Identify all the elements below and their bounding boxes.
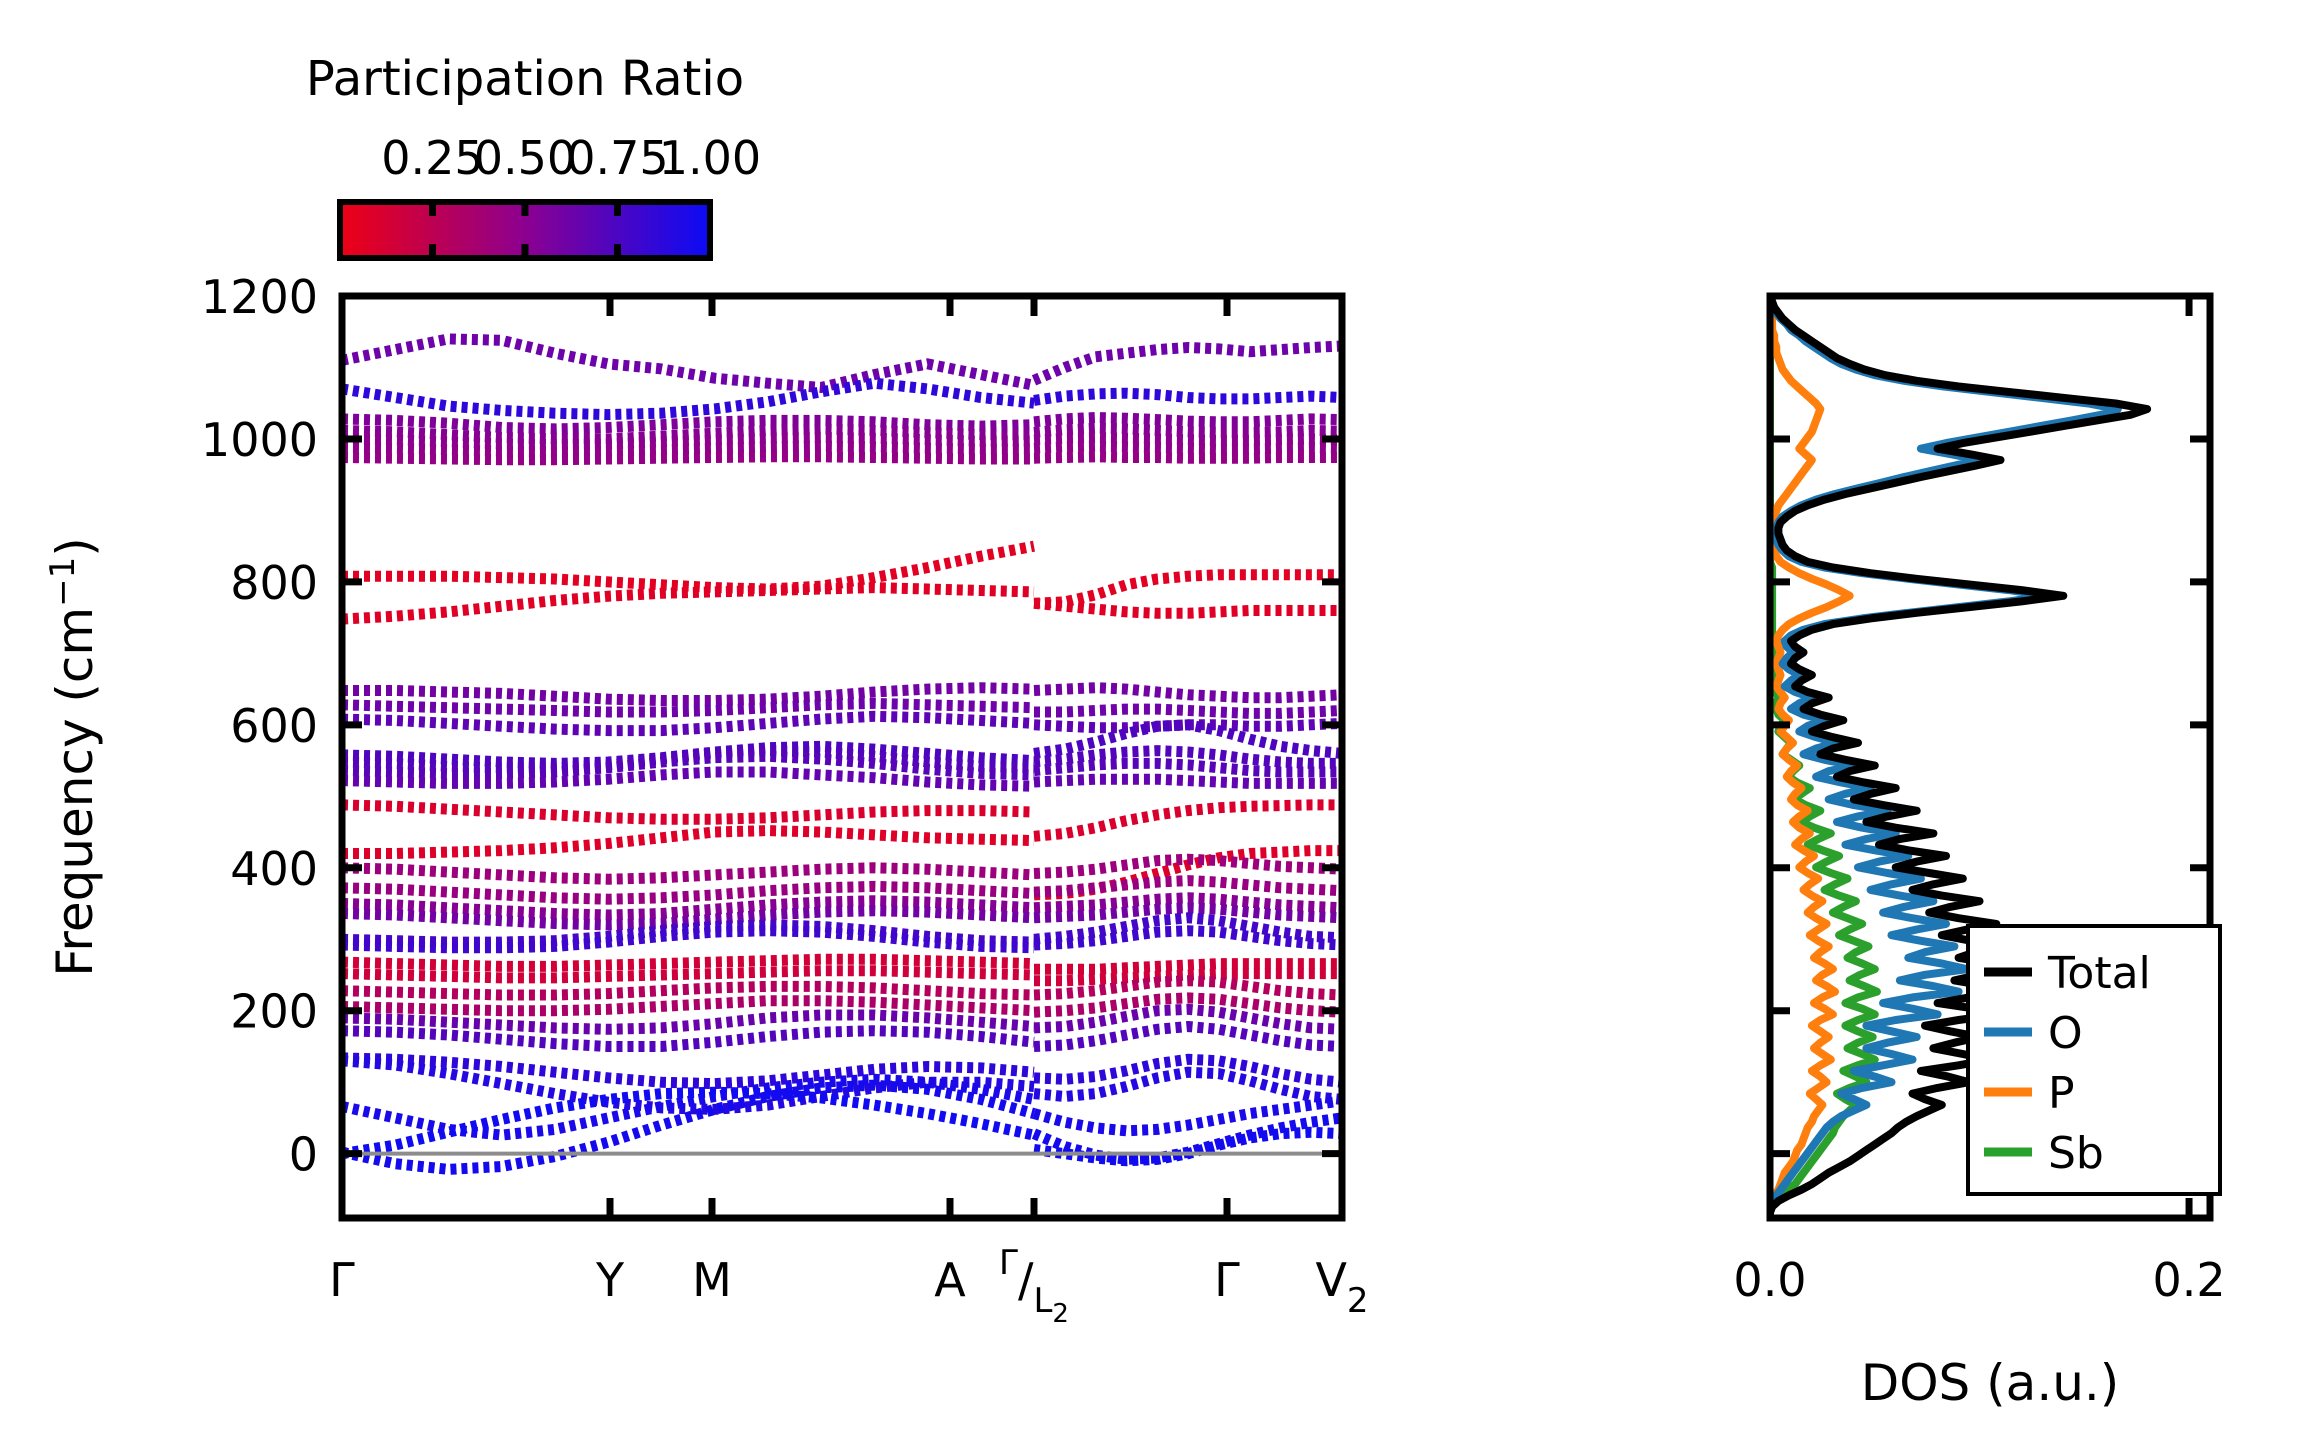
ylabel-base: Frequency (cm [46,607,104,977]
band-x-tick-label: Γ [329,1253,355,1307]
dos-x-axis-label: DOS (a.u.) [1861,1354,2120,1412]
band-y-tick-label: 0 [289,1128,318,1182]
band-x-tick-label: Γ [1214,1253,1240,1307]
dos-legend[interactable]: TotalOPSb [1968,926,2220,1194]
legend-label-p[interactable]: P [2048,1068,2075,1119]
band-y-tick-label: 800 [230,556,318,610]
colorbar-tick-label: 0.50 [474,131,576,185]
colorbar-title: Participation Ratio [306,51,744,107]
band-x-tick-label: Y [595,1253,625,1307]
band-curve [342,971,1034,978]
figure-canvas: Participation Ratio 0.250.500.751.00 020… [0,0,2302,1455]
dos-x-tick-label: 0.0 [1733,1253,1806,1307]
ylabel-superscript: −1 [43,557,83,607]
band-y-tick-label: 200 [230,985,318,1039]
colorbar-tick-labels: 0.250.500.751.00 [381,131,761,185]
figure-root: Participation Ratio 0.250.500.751.00 020… [0,0,2302,1455]
colorbar-tick-label: 1.00 [659,131,761,185]
legend-label-total[interactable]: Total [2047,948,2151,999]
band-x-tick-label: M [692,1253,732,1307]
colorbar-tick-label: 0.25 [381,131,483,185]
dos-x-tick-label: 0.2 [2152,1253,2225,1307]
band-y-tick-label: 1200 [201,270,318,324]
band-curve [342,457,1034,460]
legend-label-sb[interactable]: Sb [2048,1128,2104,1179]
band-x-tick-label: A [934,1253,966,1307]
band-y-tick-label: 1000 [201,413,318,467]
colorbar-tick-label: 0.75 [566,131,668,185]
ylabel-tail: ) [46,537,104,557]
band-curve [342,446,1034,452]
legend-label-o[interactable]: O [2048,1008,2083,1059]
band-y-tick-label: 600 [230,699,318,753]
band-curve [342,959,1034,966]
band-y-tick-label: 400 [230,842,318,896]
